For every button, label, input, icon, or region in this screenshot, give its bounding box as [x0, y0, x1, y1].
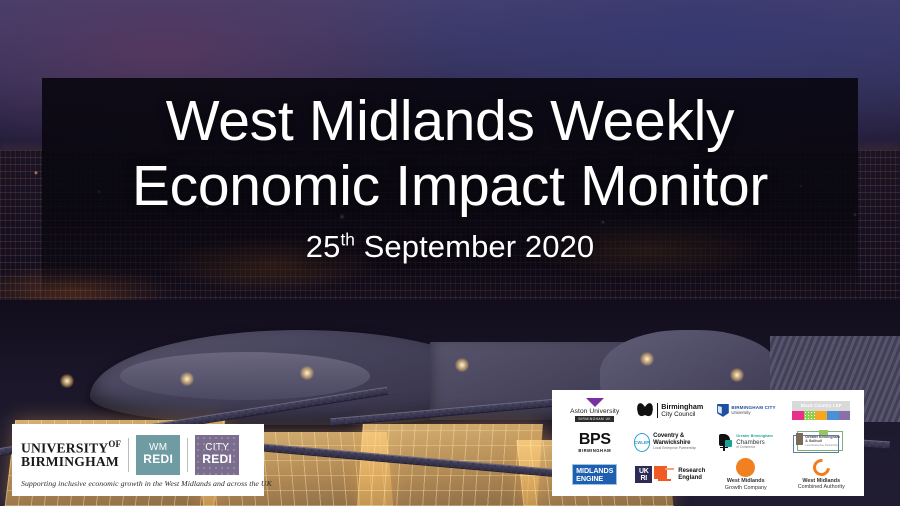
uob-university-word: UNIVERSITY: [21, 440, 108, 455]
partner-logo-wm-combined-authority: West Midlands Combined Authority: [785, 458, 859, 491]
cwlep-line-1: Coventry & Warwickshire: [653, 433, 707, 447]
partner-logo-black-country-lep: Black Country LEP: [785, 395, 859, 426]
ukri-mark-line-1: UK: [639, 468, 649, 475]
wmgc-line-1: West Midlands: [725, 478, 767, 484]
title-line-2: Economic Impact Monitor: [132, 157, 768, 216]
bcc-line-1: Birmingham: [661, 403, 703, 411]
street-lamp: [300, 366, 314, 380]
research-england-line-2: England: [678, 475, 705, 482]
cwlep-ring-icon: CWLEP: [634, 433, 651, 452]
divider-rule: [128, 438, 129, 472]
street-lamp: [60, 374, 74, 388]
growth-company-sunburst-icon: [736, 458, 755, 477]
cwlep-line-2: Local Enterprise Partnership: [653, 447, 707, 451]
partner-logo-birmingham-city-council: Birmingham City Council: [634, 395, 708, 426]
bps-city: BIRMINGHAM: [578, 449, 611, 453]
city-redi-logo: CITY REDI: [195, 435, 239, 475]
bps-acronym: BPS: [579, 432, 611, 448]
university-of-birmingham-logo: UNIVERSITYOF BIRMINGHAM: [21, 440, 121, 470]
partner-logo-birmingham-city-university: BIRMINGHAM CITY University: [709, 395, 783, 426]
partner-logo-gbs-lep: Greater Birmingham & Solihull Local Ente…: [785, 427, 859, 458]
uob-line-1: UNIVERSITYOF: [21, 440, 121, 456]
street-lamp: [640, 352, 654, 366]
street-lamp: [455, 358, 469, 372]
wmgc-line-2: Growth Company: [725, 485, 767, 491]
black-country-lep-title: Black Country LEP: [792, 401, 850, 411]
bcu-crest-icon: [716, 404, 729, 417]
midlands-engine-line-2: ENGINE: [576, 475, 613, 483]
title-slide: West Midlands Weekly Economic Impact Mon…: [0, 0, 900, 506]
slide-date: 25th September 2020: [306, 229, 595, 265]
university-tagline: Supporting inclusive economic growth in …: [21, 479, 255, 488]
partner-logo-cwlep: CWLEP Coventry & Warwickshire Local Ente…: [634, 427, 708, 458]
wmca-ring-icon: [809, 456, 833, 480]
uob-line-2: BIRMINGHAM: [21, 455, 121, 469]
partner-logo-ukri-research-england: UK RI Research England: [634, 458, 708, 491]
chambers-mark-icon: [719, 434, 734, 451]
partner-logo-bps-birmingham: BPS BIRMINGHAM: [558, 427, 632, 458]
ukri-mark-line-2: RI: [641, 475, 647, 482]
wm-redi-logo: WM REDI: [136, 435, 180, 475]
wmca-line-2: Combined Authority: [798, 484, 845, 490]
ukri-mark-icon: UK RI: [635, 466, 652, 483]
partner-logo-wm-growth-company: West Midlands Growth Company: [709, 458, 783, 491]
title-line-1: West Midlands Weekly: [166, 92, 734, 151]
chambers-line-3: of Commerce: [736, 446, 773, 450]
gbslep-line-3: Local Enterprise Partnership: [805, 444, 840, 447]
street-lamp: [180, 372, 194, 386]
aston-sub: BIRMINGHAM UK: [575, 416, 614, 422]
university-logo-row: UNIVERSITYOF BIRMINGHAM WM REDI CITY RED…: [21, 434, 255, 476]
aston-triangle-icon: [586, 398, 604, 407]
research-england-line-1: Research: [678, 468, 705, 475]
black-country-lep-colour-bar: [792, 411, 850, 420]
bcc-line-2: City Council: [661, 411, 703, 418]
date-number: 25: [306, 229, 341, 264]
gbslep-block-icon: [796, 433, 803, 445]
curved-roof-inner: [120, 352, 370, 400]
divider-rule: [187, 438, 188, 472]
bcu-line-2: University: [731, 410, 775, 415]
date-rest: September 2020: [355, 229, 594, 264]
partner-logo-greater-birmingham-chambers: Greater Birmingham Chambers of Commerce: [709, 427, 783, 458]
city-redi-bottom: REDI: [202, 453, 232, 465]
title-block: West Midlands Weekly Economic Impact Mon…: [42, 82, 858, 292]
partner-logo-aston-university: Aston University BIRMINGHAM UK: [558, 395, 632, 426]
partner-logos-panel: Aston University BIRMINGHAM UK Birmingha…: [552, 390, 864, 496]
wm-redi-bottom: REDI: [143, 453, 173, 465]
date-ordinal: th: [340, 230, 354, 250]
aston-name: Aston University: [570, 408, 619, 415]
street-lamp: [730, 368, 744, 382]
bcc-heart-icon: [637, 403, 654, 417]
university-logo-panel: UNIVERSITYOF BIRMINGHAM WM REDI CITY RED…: [12, 424, 264, 496]
partner-logo-midlands-engine: MIDLANDS ENGINE: [558, 458, 632, 491]
uob-of-word: OF: [108, 439, 121, 449]
research-england-graphic-icon: [654, 466, 676, 484]
